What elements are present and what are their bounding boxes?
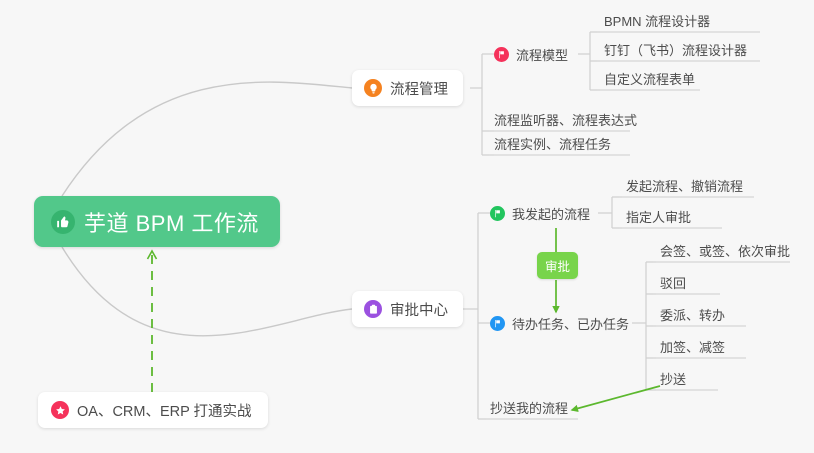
leaf-node-launch-cancel-process[interactable]: 发起流程、撤销流程 bbox=[626, 178, 743, 195]
sub-label-process-model: 流程模型 bbox=[516, 45, 568, 64]
arrow-cc-to-cc-my-process bbox=[572, 386, 660, 410]
leaf-node-delegate-transfer[interactable]: 委派、转办 bbox=[660, 307, 725, 324]
flag-icon bbox=[494, 47, 509, 62]
connector-root-to-process bbox=[62, 82, 352, 196]
leaf-node-add-remove-sign[interactable]: 加签、减签 bbox=[660, 339, 725, 356]
sub-label-my-started-process: 我发起的流程 bbox=[512, 204, 590, 223]
branch-label-approval-center: 审批中心 bbox=[390, 299, 448, 320]
clipboard-icon bbox=[364, 300, 382, 318]
leaf-node-reject[interactable]: 驳回 bbox=[660, 275, 686, 292]
edge-label-approval: 审批 bbox=[537, 252, 578, 279]
callout-label-integration-practice: OA、CRM、ERP 打通实战 bbox=[77, 400, 252, 421]
sub-node-my-started-process[interactable]: 我发起的流程 bbox=[490, 204, 590, 223]
thumbs-up-icon bbox=[51, 210, 75, 234]
mindmap-canvas: 芋道 BPM 工作流 流程管理 流程模型 BPMN 流程设计器 钉钉（飞书）流程… bbox=[0, 0, 814, 453]
leaf-node-process-listener[interactable]: 流程监听器、流程表达式 bbox=[494, 112, 637, 129]
sub-node-todo-done-tasks[interactable]: 待办任务、已办任务 bbox=[490, 314, 629, 333]
leaf-node-process-instance[interactable]: 流程实例、流程任务 bbox=[494, 136, 611, 153]
flag-icon bbox=[490, 316, 505, 331]
flag-icon bbox=[490, 206, 505, 221]
root-node[interactable]: 芋道 BPM 工作流 bbox=[34, 196, 280, 247]
leaf-node-assignee-approval[interactable]: 指定人审批 bbox=[626, 209, 691, 226]
leaf-node-cc[interactable]: 抄送 bbox=[660, 371, 686, 388]
connector-root-to-approval bbox=[62, 247, 352, 336]
callout-node-integration-practice[interactable]: OA、CRM、ERP 打通实战 bbox=[38, 392, 268, 428]
branch-node-approval-center[interactable]: 审批中心 bbox=[352, 291, 463, 327]
branch-label-process-management: 流程管理 bbox=[390, 78, 448, 99]
sub-node-process-model[interactable]: 流程模型 bbox=[494, 45, 568, 64]
lightbulb-icon bbox=[364, 79, 382, 97]
leaf-node-dingtalk-designer[interactable]: 钉钉（飞书）流程设计器 bbox=[604, 42, 747, 59]
star-icon bbox=[51, 401, 69, 419]
branch-node-process-management[interactable]: 流程管理 bbox=[352, 70, 463, 106]
leaf-node-countersign[interactable]: 会签、或签、依次审批 bbox=[660, 243, 790, 260]
root-label: 芋道 BPM 工作流 bbox=[84, 206, 259, 238]
sub-label-todo-done-tasks: 待办任务、已办任务 bbox=[512, 314, 629, 333]
leaf-node-custom-form[interactable]: 自定义流程表单 bbox=[604, 71, 695, 88]
leaf-node-bpmn-designer[interactable]: BPMN 流程设计器 bbox=[604, 13, 710, 30]
leaf-node-cc-my-process[interactable]: 抄送我的流程 bbox=[490, 400, 568, 417]
